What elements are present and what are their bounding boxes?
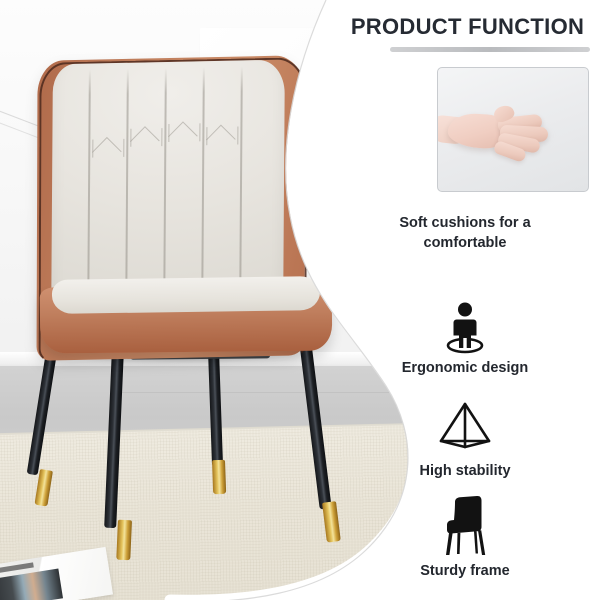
stitch-chevron [206, 127, 238, 146]
chair-leg-rear-left [27, 351, 57, 475]
cushion-photo-card [437, 67, 589, 192]
product-infographic: PRODUCT FUNCTION Soft cushions for a com… [0, 0, 600, 600]
title-divider-rule [390, 47, 590, 52]
chair-leg-cap-rear-left [34, 469, 52, 507]
hand-pressing-cushion-icon [438, 98, 588, 168]
feature-caption-ergonomic: Ergonomic design [335, 358, 595, 378]
chair-leg-cap-front-left [116, 520, 132, 561]
feature-caption-sturdy: Sturdy frame [335, 561, 595, 581]
stitch-chevron [92, 139, 124, 158]
chair-leg-rear-right [208, 350, 223, 466]
stitch-chevron [168, 123, 200, 142]
chair-seat-cushion [52, 276, 320, 314]
caption-line-1: Soft cushions for a [335, 213, 595, 233]
feature-caption-stability: High stability [335, 461, 595, 481]
caption-line-2: comfortable [335, 233, 595, 253]
feature-caption-soft-cushion: Soft cushions for a comfortable [335, 213, 595, 253]
pyramid-wireframe-icon [330, 399, 600, 451]
chair-leg-cap-rear-right [212, 460, 226, 494]
person-standing-icon [330, 299, 600, 354]
feature-panel: PRODUCT FUNCTION Soft cushions for a com… [330, 0, 600, 600]
page-title: PRODUCT FUNCTION [335, 14, 600, 40]
stitch-chevron [130, 128, 162, 147]
chair-leg-front-left [104, 348, 124, 528]
chair-silhouette-icon [330, 494, 600, 556]
chair-leg-front-right [300, 347, 332, 509]
